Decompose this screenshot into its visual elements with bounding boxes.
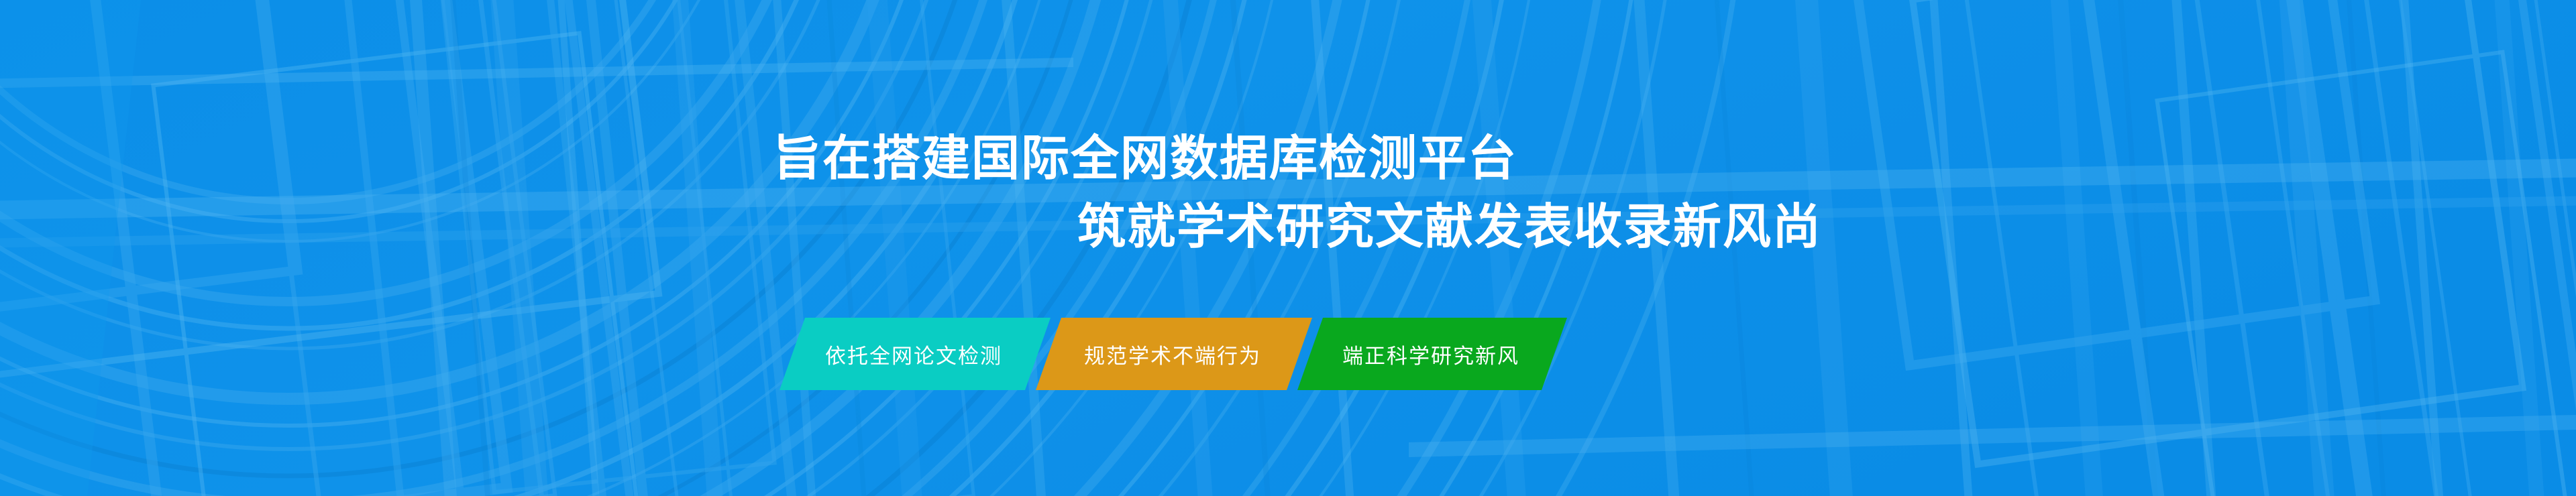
headline-line-2: 筑就学术研究文献发表收录新风尚 — [0, 193, 2576, 261]
headline: 旨在搭建国际全网数据库检测平台 筑就学术研究文献发表收录新风尚 — [0, 125, 2576, 261]
headline-line-1: 旨在搭建国际全网数据库检测平台 — [0, 125, 2576, 193]
feature-tag-misconduct-label: 规范学术不端行为 — [1084, 339, 1261, 369]
feature-tag-integrity-label: 端正科学研究新风 — [1342, 339, 1519, 369]
feature-tag-misconduct[interactable]: 规范学术不端行为 — [1036, 318, 1312, 390]
feature-tag-integrity[interactable]: 端正科学研究新风 — [1297, 318, 1567, 390]
feature-tag-detection[interactable]: 依托全网论文检测 — [780, 318, 1051, 390]
feature-tag-detection-label: 依托全网论文检测 — [825, 339, 1002, 369]
promo-banner: 旨在搭建国际全网数据库检测平台 筑就学术研究文献发表收录新风尚 依托全网论文检测… — [0, 0, 2576, 496]
feature-tag-strip: 依托全网论文检测 规范学术不端行为 端正科学研究新风 — [780, 318, 1567, 390]
